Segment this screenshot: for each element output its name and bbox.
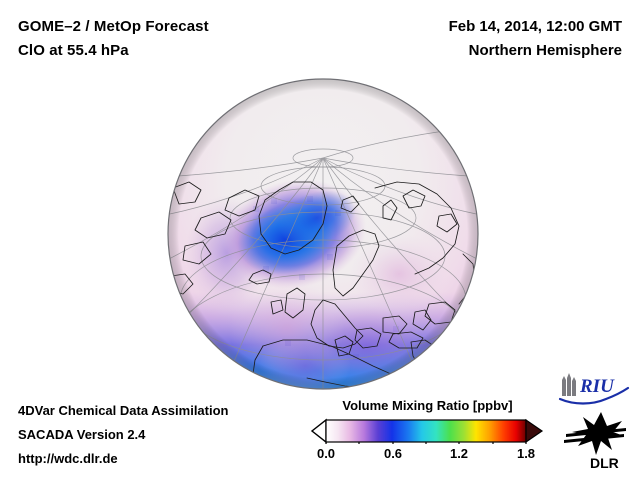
orthographic-projection-svg (167, 78, 479, 390)
colorbar-tick-1: 0.6 (384, 446, 402, 461)
globe-map (167, 78, 479, 390)
colorbar-tick-0: 0.0 (317, 446, 335, 461)
colorbar-gradient-body (326, 420, 526, 442)
colorbar-tick-3: 1.8 (517, 446, 535, 461)
footer-url-link[interactable]: http://wdc.dlr.de (18, 451, 118, 466)
colorbar-right-cap (526, 420, 542, 442)
page-title: GOME–2 / MetOp Forecast (18, 18, 209, 35)
hemisphere-label: Northern Hemisphere (469, 42, 622, 59)
colorbar-left-cap (312, 420, 326, 442)
colorbar-title: Volume Mixing Ratio [ppbv] (310, 398, 545, 413)
riu-logo: RIU (556, 370, 632, 406)
dlr-wordmark: DLR (590, 455, 619, 471)
limb-shading (168, 79, 478, 389)
footer-method-label: 4DVar Chemical Data Assimilation (18, 403, 229, 418)
colorbar-swatch (310, 418, 545, 444)
page-subtitle: ClO at 55.4 hPa (18, 42, 129, 59)
dlr-emblem-icon (564, 412, 626, 455)
dlr-logo: DLR (560, 410, 632, 472)
visualization-page: GOME–2 / MetOp Forecast ClO at 55.4 hPa … (0, 0, 640, 480)
valid-time-label: Feb 14, 2014, 12:00 GMT (449, 18, 622, 35)
footer-version-label: SACADA Version 2.4 (18, 427, 145, 442)
colorbar-tick-2: 1.2 (450, 446, 468, 461)
colorbar: Volume Mixing Ratio [ppbv] 0.0 (310, 398, 545, 470)
riu-wordmark: RIU (579, 376, 615, 397)
riu-tower-icon (562, 373, 576, 396)
